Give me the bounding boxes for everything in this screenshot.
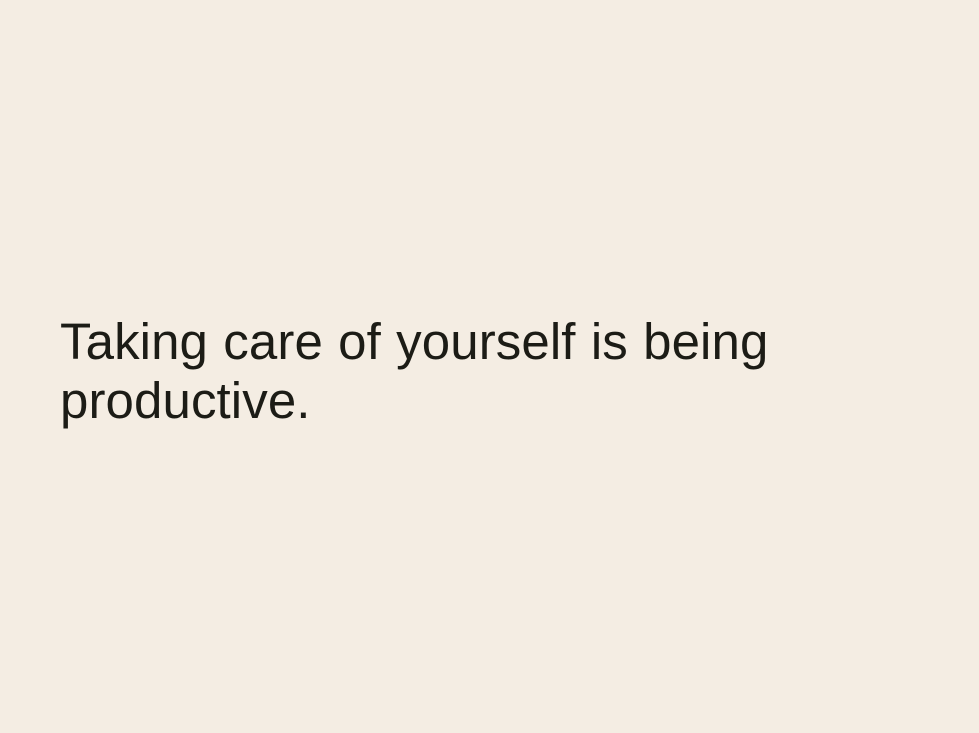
quote-card: Taking care of yourself is being product… — [0, 0, 979, 733]
quote-text: Taking care of yourself is being product… — [60, 312, 860, 430]
quote-text-block: Taking care of yourself is being product… — [60, 312, 860, 430]
